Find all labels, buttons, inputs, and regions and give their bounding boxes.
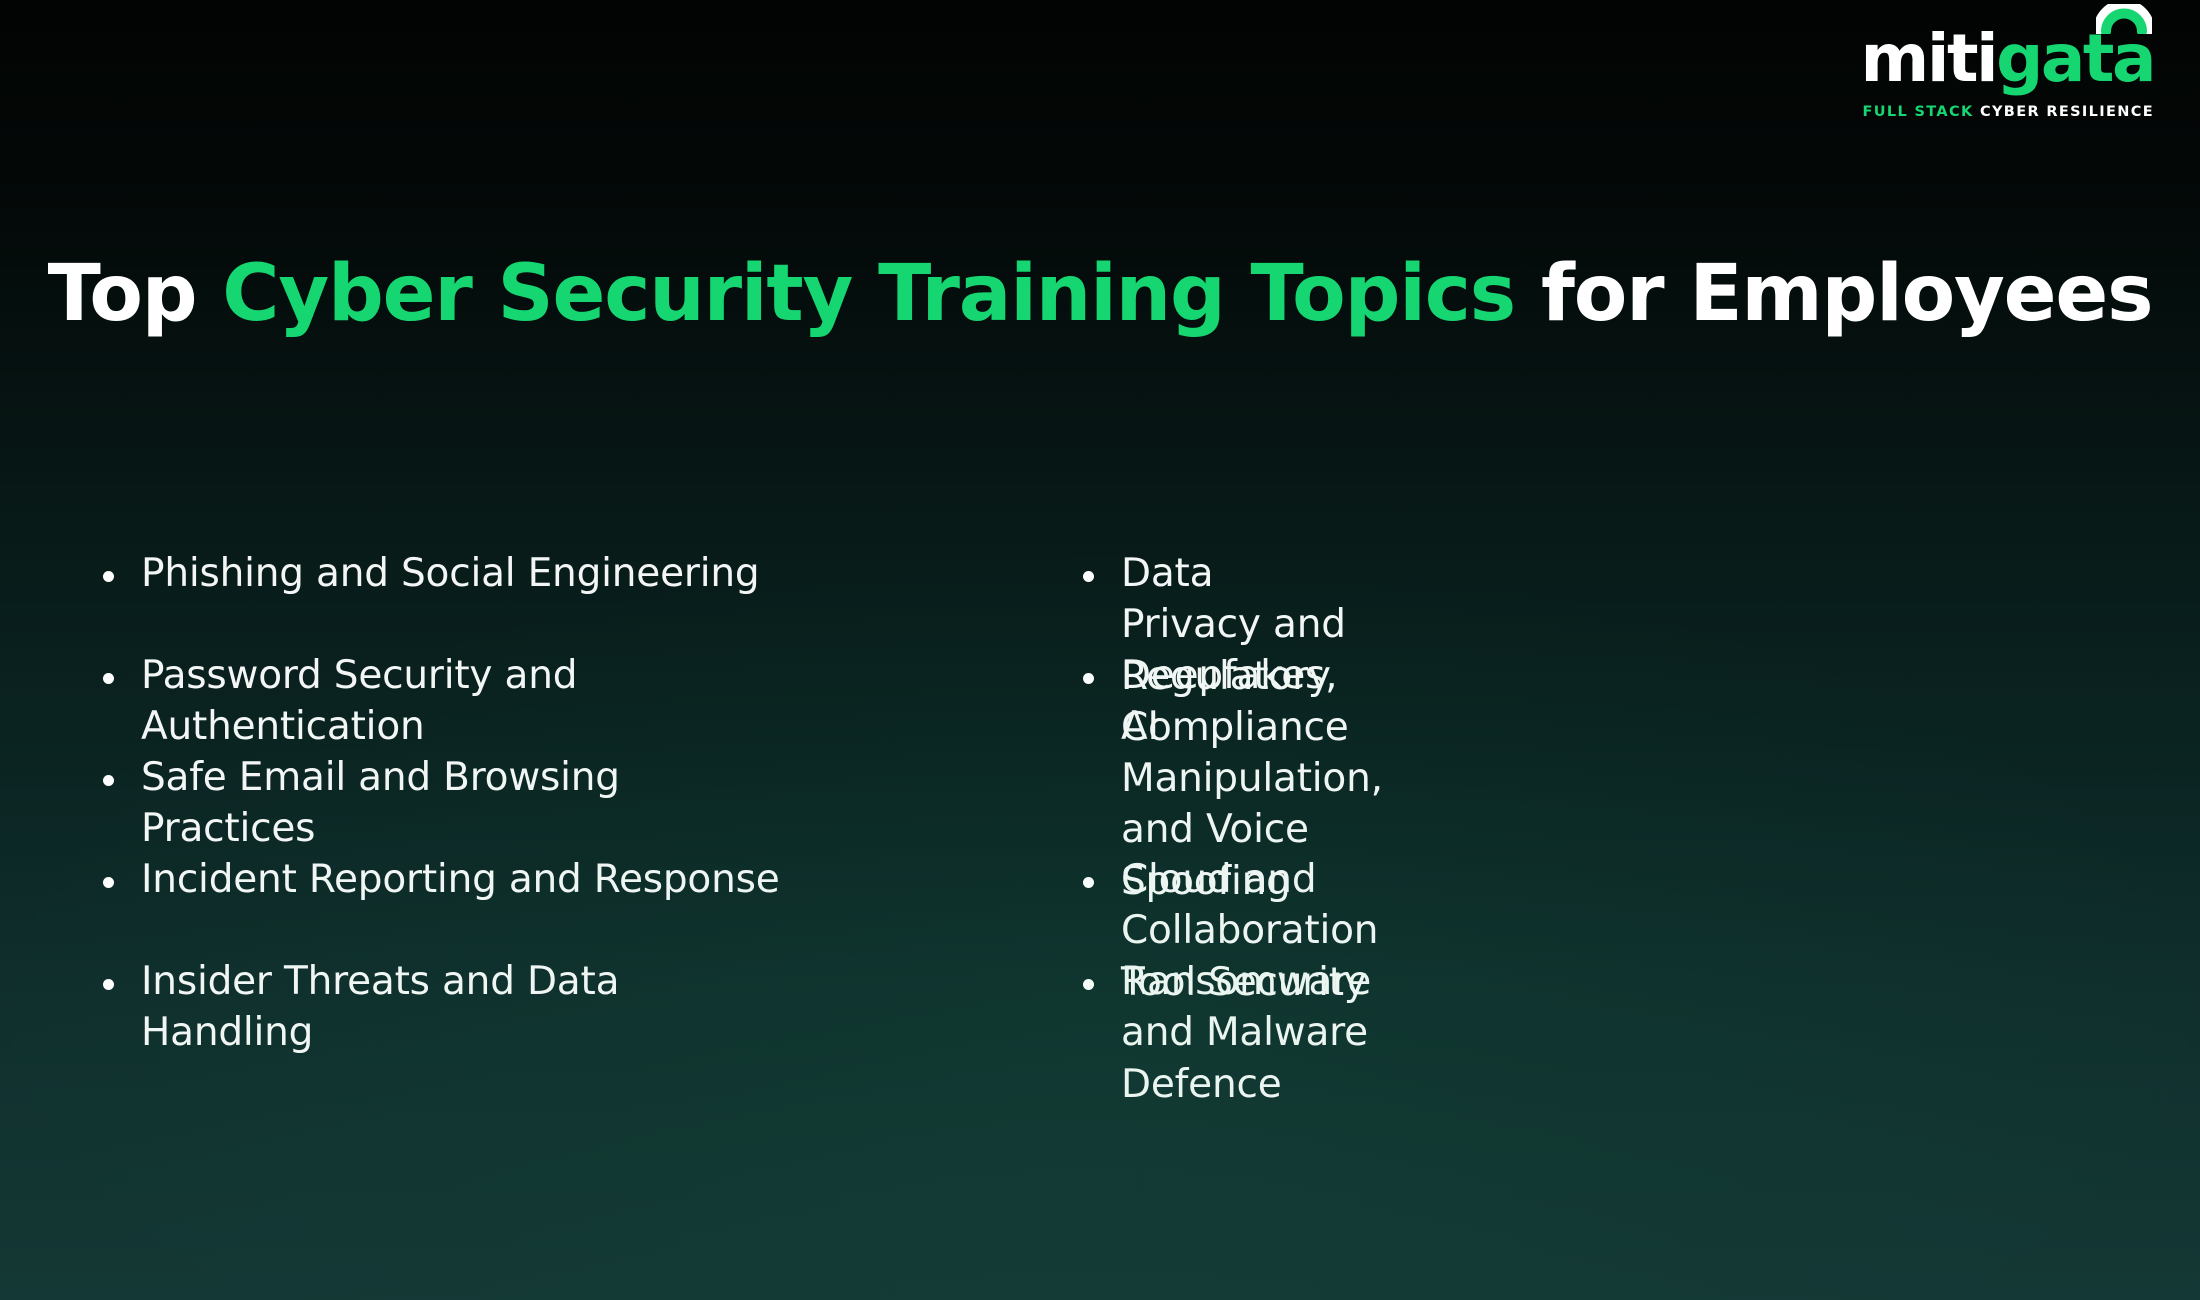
bullet-icon <box>1083 571 1094 582</box>
list-item: Cloud and Collaboration Tool Security <box>1083 854 1140 956</box>
bullet-icon <box>103 775 114 786</box>
page-title: Top Cyber Security Training Topics for E… <box>0 251 2200 338</box>
list-item: Phishing and Social Engineering <box>103 548 1080 650</box>
brand-logo: mitigata FULL STACK CYBER RESILIENCE <box>1861 26 2154 120</box>
bullet-icon <box>103 673 114 684</box>
topics-list: Phishing and Social Engineering Password… <box>0 548 2200 1068</box>
list-item: Data Privacy and Regulatory Compliance <box>1083 548 1140 650</box>
tagline-plain-text: CYBER RESILIENCE <box>1980 104 2154 120</box>
topic-label: Incident Reporting and Response <box>141 854 780 905</box>
logo-tagline: FULL STACK CYBER RESILIENCE <box>1861 105 2154 120</box>
slide-canvas: mitigata FULL STACK CYBER RESILIENCE Top… <box>0 0 2200 1300</box>
topics-column-left: Phishing and Social Engineering Password… <box>0 548 1080 1068</box>
list-item: Ransomware and Malware Defence <box>1083 956 1140 1058</box>
list-item: Password Security and Authentication <box>103 650 1080 752</box>
bullet-icon <box>103 571 114 582</box>
topic-label: Phishing and Social Engineering <box>141 548 759 599</box>
bullet-icon <box>1083 979 1094 990</box>
list-item: Deepfakes, AI Manipulation, and Voice Sp… <box>1083 650 1140 854</box>
topic-label: Password Security and Authentication <box>141 650 801 753</box>
logo-word-miti: miti <box>1861 20 1997 97</box>
tagline-accent-text: FULL STACK <box>1863 104 1974 120</box>
topic-label: Ransomware and Malware Defence <box>1121 956 1371 1110</box>
logo-wordmark: mitigata <box>1861 26 2154 92</box>
title-segment-leading: Top <box>48 249 223 339</box>
list-item: Safe Email and Browsing Practices <box>103 752 1080 854</box>
list-item: Insider Threats and Data Handling <box>103 956 1080 1058</box>
bullet-icon <box>1083 877 1094 888</box>
bullet-icon <box>1083 673 1094 684</box>
bullet-icon <box>103 979 114 990</box>
title-segment-trailing: for Employees <box>1515 249 2152 339</box>
topic-label: Safe Email and Browsing Practices <box>141 752 801 855</box>
list-item: Incident Reporting and Response <box>103 854 1080 956</box>
title-segment-highlight: Cyber Security Training Topics <box>222 249 1515 339</box>
bullet-icon <box>103 877 114 888</box>
topic-label: Insider Threats and Data Handling <box>141 956 801 1059</box>
logo-word-gata: gata <box>1996 20 2154 97</box>
